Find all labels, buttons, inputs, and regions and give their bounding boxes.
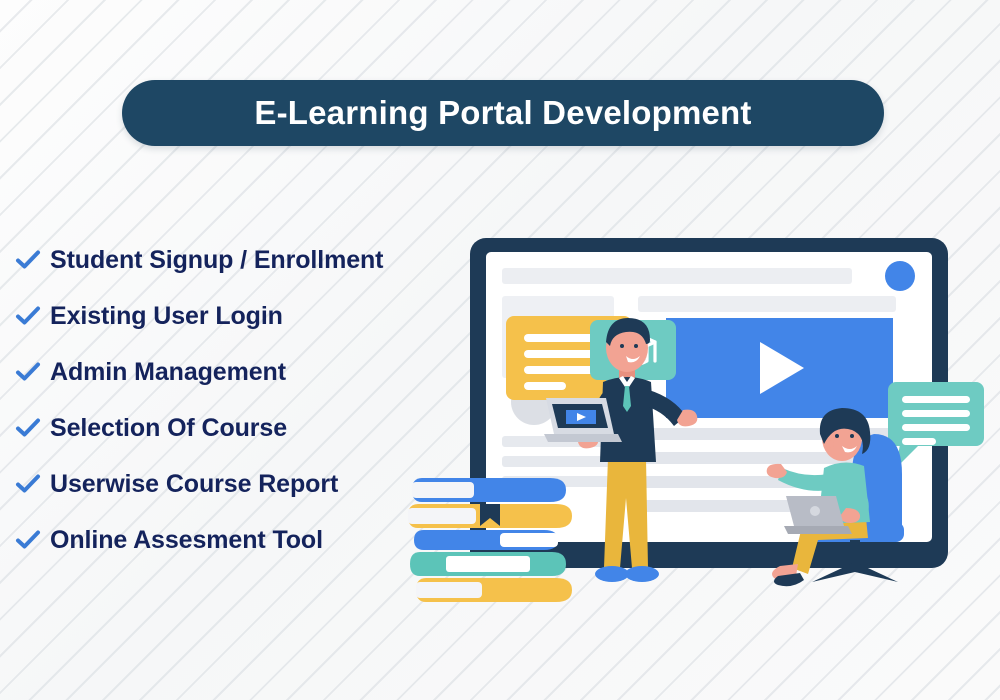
- check-icon: [14, 246, 42, 274]
- content-header-bar: [638, 296, 896, 312]
- list-item: Existing User Login: [14, 288, 464, 344]
- check-icon: [14, 526, 42, 554]
- list-item: Selection Of Course: [14, 400, 464, 456]
- feature-list: Student Signup / Enrollment Existing Use…: [14, 232, 464, 568]
- feature-label: Admin Management: [50, 358, 286, 387]
- book-stack: [408, 478, 572, 602]
- page-title: E-Learning Portal Development: [254, 94, 751, 132]
- search-bar: [502, 268, 852, 284]
- check-icon: [14, 414, 42, 442]
- list-item: Student Signup / Enrollment: [14, 232, 464, 288]
- feature-label: Userwise Course Report: [50, 470, 338, 499]
- list-item: Userwise Course Report: [14, 456, 464, 512]
- check-icon: [14, 470, 42, 498]
- feature-label: Online Assesment Tool: [50, 526, 323, 555]
- infographic-canvas: E-Learning Portal Development Student Si…: [0, 0, 1000, 700]
- e-learning-illustration: [400, 230, 1000, 630]
- check-icon: [14, 358, 42, 386]
- avatar: [885, 261, 915, 291]
- title-banner: E-Learning Portal Development: [122, 80, 884, 146]
- list-item: Admin Management: [14, 344, 464, 400]
- feature-label: Selection Of Course: [50, 414, 287, 443]
- illustration-svg: [400, 230, 1000, 630]
- video-panel: [666, 318, 893, 418]
- check-icon: [14, 302, 42, 330]
- feature-label: Student Signup / Enrollment: [50, 246, 383, 275]
- feature-label: Existing User Login: [50, 302, 283, 331]
- list-item: Online Assesment Tool: [14, 512, 464, 568]
- placeholder-line: [502, 456, 614, 467]
